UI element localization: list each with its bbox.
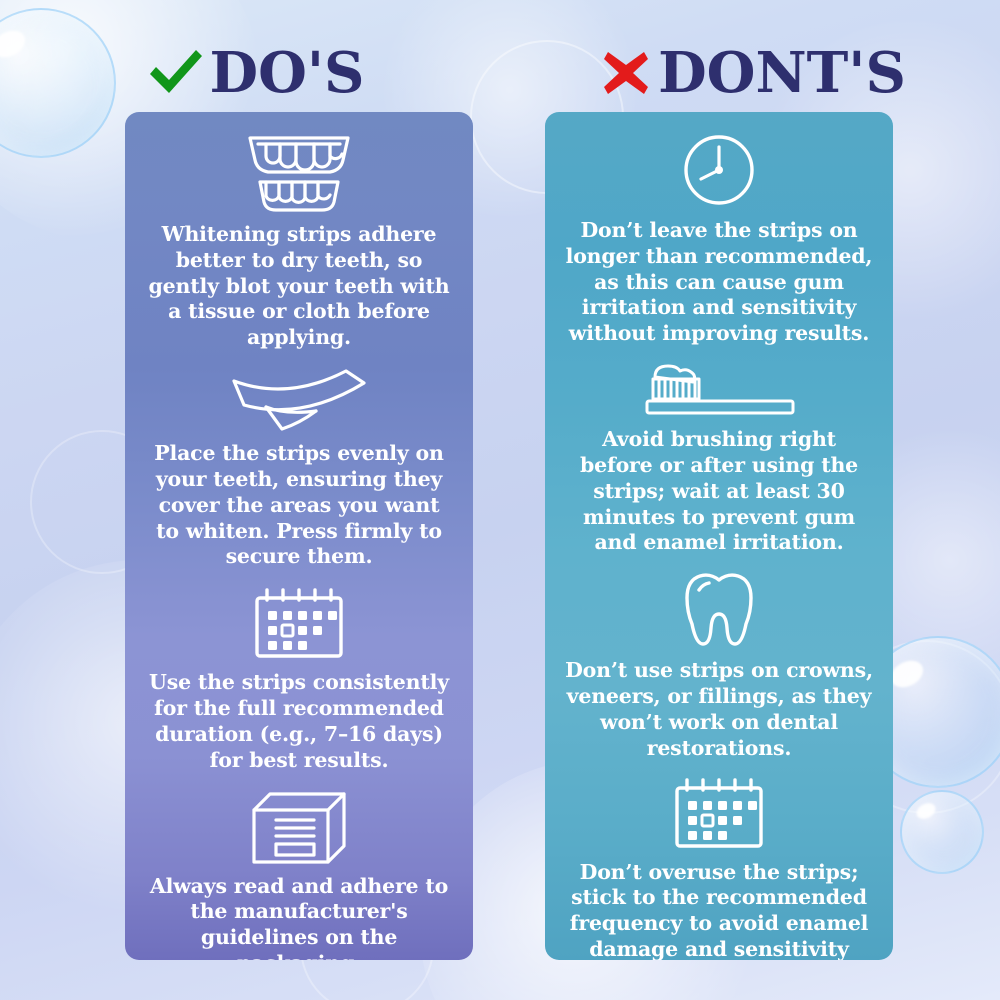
- dos-item: Whitening strips adhere better to dry te…: [139, 130, 459, 351]
- dos-header: DO'S: [0, 36, 502, 110]
- donts-item: Don’t leave the strips on longer than re…: [559, 130, 879, 347]
- donts-item-text: Don’t use strips on crowns, veneers, or …: [559, 658, 879, 761]
- donts-item: Don’t use strips on crowns, veneers, or …: [559, 570, 879, 761]
- dos-item-text: Always read and adhere to the manufactur…: [139, 874, 459, 960]
- dos-item-text: Use the strips consistently for the full…: [139, 670, 459, 773]
- dos-item: Place the strips evenly on your teeth, e…: [139, 367, 459, 570]
- donts-item: Don’t overuse the strips; stick to the r…: [559, 776, 879, 960]
- dos-title: DO'S: [210, 45, 365, 101]
- donts-panel: Don’t leave the strips on longer than re…: [545, 112, 893, 960]
- calendar-icon: [251, 586, 347, 662]
- donts-item: Avoid brushing right before or after usi…: [559, 361, 879, 556]
- cross-mark-icon: [600, 48, 652, 98]
- tooth-icon: [681, 570, 757, 650]
- donts-item-text: Don’t overuse the strips; stick to the r…: [559, 860, 879, 960]
- dos-item-text: Place the strips evenly on your teeth, e…: [139, 441, 459, 570]
- decorative-bubble: [900, 790, 984, 874]
- dos-item: Use the strips consistently for the full…: [139, 586, 459, 773]
- dos-item: Always read and adhere to the manufactur…: [139, 790, 459, 960]
- infographic-poster: DO'S DONT'S: [0, 0, 1000, 1000]
- donts-header: DONT'S: [502, 36, 1000, 110]
- calendar-icon: [671, 776, 767, 852]
- whitening-strip-icon: [228, 367, 370, 433]
- clock-icon: [679, 130, 759, 210]
- column-headers: DO'S DONT'S: [0, 36, 1000, 110]
- teeth-dentures-icon: [244, 130, 354, 214]
- donts-title: DONT'S: [658, 45, 906, 101]
- package-box-icon: [248, 790, 350, 866]
- dos-item-text: Whitening strips adhere better to dry te…: [139, 222, 459, 351]
- donts-item-text: Avoid brushing right before or after usi…: [559, 427, 879, 556]
- dos-panel: Whitening strips adhere better to dry te…: [125, 112, 473, 960]
- check-mark-icon: [146, 47, 204, 99]
- donts-item-text: Don’t leave the strips on longer than re…: [559, 218, 879, 347]
- toothbrush-icon: [639, 361, 799, 419]
